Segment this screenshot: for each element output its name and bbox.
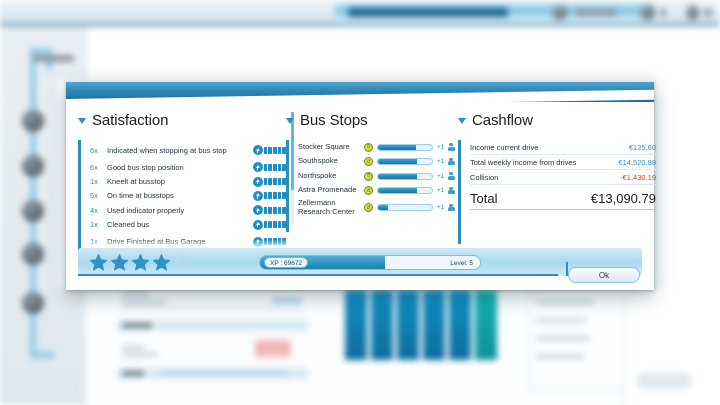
satisfaction-meter-segment: [268, 192, 272, 199]
background-line: [122, 371, 144, 376]
satisfaction-count: 1x: [90, 220, 103, 229]
star-rating: [90, 254, 191, 271]
background-line: [122, 345, 144, 350]
arrow-up-icon: [253, 145, 263, 155]
background-divider: [122, 307, 302, 309]
background-line: [536, 318, 586, 323]
satisfaction-meter: [253, 220, 286, 230]
satisfaction-header: Satisfaction: [78, 112, 286, 136]
cashflow-row: Income current drive€125.60: [470, 140, 656, 155]
xp-progress-bar: XP : 69672 Level: 5: [259, 255, 481, 270]
bus-stop-name: Stocker Square: [298, 143, 360, 152]
cashflow-value: €125.60: [629, 143, 656, 152]
bus-stop-row: Southspoke8+1: [298, 155, 458, 170]
bus-stop-progress-bar: [377, 144, 433, 151]
satisfaction-meter-segment: [268, 207, 272, 214]
cashflow-header: Cashflow: [458, 112, 656, 136]
xp-label: XP : 69672: [264, 257, 308, 268]
satisfaction-meter-segment: [273, 164, 277, 171]
background-line: [122, 352, 158, 357]
dialog-footer: XP : 69672 Level: 5 Ok: [66, 244, 654, 290]
satisfaction-row: 6xIndicated when stopping at bus stop: [90, 140, 286, 160]
cashflow-label: Total weekly income from drives: [470, 158, 576, 167]
satisfaction-meter-segment: [278, 164, 282, 171]
background-line: [122, 323, 152, 328]
passenger-icon: [448, 143, 456, 151]
cashflow-value: €14,520.98: [618, 158, 656, 167]
background-line: [536, 354, 584, 359]
cashflow-row: Collision-€1,430.19: [470, 170, 656, 185]
cashflow-total-value: €13,090.79: [591, 191, 656, 206]
satisfaction-meter-segment: [264, 221, 268, 228]
satisfaction-meter-segment: [278, 192, 282, 199]
bus-stop-name: Southspoke: [298, 157, 360, 166]
star-filled-icon: [132, 254, 149, 271]
background-route-node: [22, 292, 44, 314]
background-route-bend-bottom: [30, 352, 54, 358]
caret-down-icon: [458, 118, 467, 127]
background-chart-bar: [397, 290, 419, 360]
cashflow-section: Cashflow Income current drive€125.60Tota…: [458, 112, 656, 257]
satisfaction-section: Satisfaction 6xIndicated when stopping a…: [78, 112, 286, 257]
satisfaction-accent-rule: [78, 140, 81, 260]
satisfaction-count: 6x: [90, 163, 103, 172]
cashflow-list: Income current drive€125.60Total weekly …: [470, 140, 656, 244]
coin-icon: 8: [364, 203, 373, 212]
background-button: [638, 374, 690, 388]
cashflow-label: Income current drive: [470, 143, 538, 152]
satisfaction-label: Indicated when stopping at bus stop: [107, 146, 249, 155]
arrow-up-icon: [253, 162, 263, 172]
satisfaction-meter-segment: [273, 147, 277, 154]
background-line: [122, 300, 166, 305]
cashflow-value: -€1,430.19: [620, 173, 656, 182]
bus-stop-progress-fill: [378, 174, 417, 179]
satisfaction-label: Cleaned bus: [107, 220, 249, 229]
bus-stops-header: Bus Stops: [286, 112, 458, 136]
satisfaction-content: 6xIndicated when stopping at bus stop6xG…: [78, 140, 286, 260]
satisfaction-meter: [253, 205, 286, 215]
satisfaction-meter: [253, 145, 286, 155]
bus-stop-progress-bar: [377, 204, 433, 211]
background-route-node: [22, 243, 44, 265]
coin-icon: 8: [364, 172, 373, 181]
satisfaction-count: 4x: [90, 206, 103, 215]
satisfaction-meter-segment: [278, 207, 282, 214]
background-toolbar-label: [575, 9, 617, 16]
satisfaction-count: 5x: [90, 191, 103, 200]
satisfaction-meter-segment: [264, 164, 268, 171]
cashflow-label: Collision: [470, 173, 498, 182]
satisfaction-row: 5xOn time at busstops: [90, 189, 286, 203]
bus-stops-section: Bus Stops Stocker Square8+1Southspoke8+1…: [286, 112, 458, 257]
satisfaction-meter-segment: [273, 207, 277, 214]
background-route-node: [22, 200, 44, 222]
background-avatar-icon: [686, 5, 699, 20]
rating-bar: XP : 69672 Level: 5: [78, 248, 642, 276]
cashflow-title: Cashflow: [472, 112, 533, 129]
background-line: [536, 336, 590, 341]
bus-stop-bonus: +1: [437, 158, 444, 165]
background-line: [272, 298, 302, 303]
satisfaction-meter-segment: [273, 221, 277, 228]
bus-stops-title: Bus Stops: [300, 112, 367, 129]
coin-icon: 8: [364, 157, 373, 166]
background-chart-bar: [423, 290, 445, 360]
satisfaction-meter-segment: [264, 147, 268, 154]
level-label: Level: 5: [450, 256, 473, 270]
star-filled-icon: [153, 254, 170, 271]
satisfaction-meter: [253, 162, 286, 172]
dialog-titlebar: [66, 82, 654, 102]
satisfaction-count: 1x: [90, 177, 103, 186]
satisfaction-label: Kneelt at busstop: [107, 177, 249, 186]
background-chart-bar: [345, 290, 367, 360]
bus-stop-row: Stocker Square8+1: [298, 140, 458, 155]
bus-stop-bonus: +1: [437, 204, 444, 211]
satisfaction-meter-segment: [264, 178, 268, 185]
footer-rule: [78, 274, 558, 276]
background-toolbar-icon: [640, 5, 655, 20]
bus-stops-content: Stocker Square8+1Southspoke8+1Northspoke…: [286, 140, 458, 232]
background-line: [160, 372, 290, 375]
background-toolbar-progress-fill: [348, 7, 508, 17]
bus-stop-name: Zellermann Research Center: [298, 199, 360, 216]
bus-stops-accent-rule: [286, 140, 289, 232]
coin-icon: 8: [364, 143, 373, 152]
satisfaction-row: 1xCleaned bus: [90, 218, 286, 232]
cashflow-total-label: Total: [470, 191, 497, 206]
passenger-icon: [448, 158, 456, 166]
background-route-node: [22, 110, 44, 132]
background-toolbar-label: [704, 9, 712, 16]
star-filled-icon: [111, 254, 128, 271]
satisfaction-count: 6x: [90, 146, 103, 155]
bus-stop-row: Zellermann Research Center8+1: [298, 198, 458, 217]
satisfaction-label: On time at busstops: [107, 191, 249, 200]
satisfaction-meter: [253, 191, 286, 201]
cashflow-total-row: Total €13,090.79: [470, 188, 656, 210]
satisfaction-meter-segment: [273, 192, 277, 199]
satisfaction-row: 6xGood bus stop position: [90, 160, 286, 174]
coin-icon: 8: [364, 186, 373, 195]
background-toolbar-label: [660, 9, 666, 16]
background-negative-block: [255, 340, 291, 357]
caret-down-icon: [286, 118, 295, 127]
ok-button[interactable]: Ok: [568, 267, 640, 283]
background-route-node: [22, 155, 44, 177]
satisfaction-row: 4xUsed indicator properly: [90, 203, 286, 217]
bus-stop-progress-fill: [378, 205, 388, 210]
satisfaction-meter-segment: [264, 192, 268, 199]
arrow-up-icon: [253, 220, 263, 230]
background-label: [32, 55, 74, 62]
background-chart-bar: [475, 290, 497, 360]
background-line: [536, 300, 594, 305]
bus-stop-progress-bar: [377, 158, 433, 165]
bus-stop-name: Astra Promenade: [298, 186, 360, 195]
bus-stop-row: Astra Promenade8+1: [298, 184, 458, 199]
cashflow-content: Income current drive€125.60Total weekly …: [458, 140, 656, 244]
satisfaction-meter-segment: [264, 207, 268, 214]
satisfaction-row: 1xKneelt at busstop: [90, 174, 286, 188]
bus-stop-name: Northspoke: [298, 172, 360, 181]
satisfaction-meter-segment: [268, 221, 272, 228]
satisfaction-meter-segment: [278, 147, 282, 154]
satisfaction-label: Used indicator properly: [107, 206, 249, 215]
bus-stops-list: Stocker Square8+1Southspoke8+1Northspoke…: [298, 140, 458, 232]
satisfaction-meter: [253, 177, 286, 187]
satisfaction-meter-segment: [278, 178, 282, 185]
bus-stop-bonus: +1: [437, 187, 444, 194]
summary-dialog: Satisfaction 6xIndicated when stopping a…: [66, 82, 654, 290]
bus-stop-progress-fill: [378, 188, 417, 193]
bus-stop-progress-bar: [377, 187, 433, 194]
satisfaction-meter-segment: [278, 221, 282, 228]
cashflow-row: Total weekly income from drives€14,520.9…: [470, 155, 656, 170]
bus-stop-bonus: +1: [437, 144, 444, 151]
star-filled-icon: [90, 254, 107, 271]
background-chart-bar: [371, 290, 393, 360]
arrow-up-icon: [253, 191, 263, 201]
cashflow-accent-rule: [458, 140, 461, 244]
arrow-up-icon: [253, 177, 263, 187]
satisfaction-meter-segment: [268, 164, 272, 171]
star-empty-icon: [174, 254, 191, 271]
bus-stop-bonus: +1: [437, 173, 444, 180]
background-line: [122, 292, 150, 297]
satisfaction-list[interactable]: 6xIndicated when stopping at bus stop6xG…: [90, 140, 286, 252]
satisfaction-meter-segment: [268, 147, 272, 154]
bus-stop-progress-fill: [378, 145, 416, 150]
satisfaction-meter-segment: [273, 178, 277, 185]
caret-down-icon: [78, 118, 87, 127]
satisfaction-title: Satisfaction: [92, 112, 168, 129]
bus-stop-row: Northspoke8+1: [298, 169, 458, 184]
satisfaction-label: Good bus stop position: [107, 163, 249, 172]
background-toolbar-icon: [552, 5, 567, 20]
satisfaction-meter-segment: [268, 178, 272, 185]
bus-stop-progress-fill: [378, 159, 417, 164]
passenger-icon: [448, 204, 456, 212]
passenger-icon: [448, 187, 456, 195]
passenger-icon: [448, 172, 456, 180]
arrow-up-icon: [253, 205, 263, 215]
background-chart-bar: [449, 290, 471, 360]
bus-stop-progress-bar: [377, 173, 433, 180]
